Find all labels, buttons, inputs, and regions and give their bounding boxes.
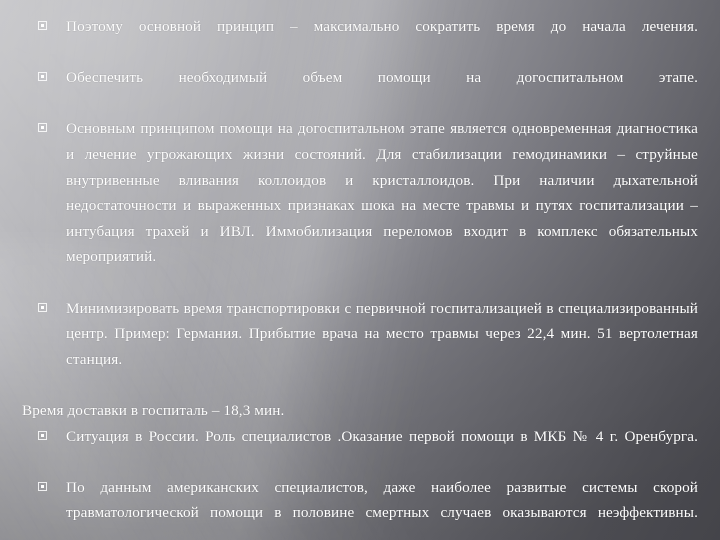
plain-paragraph-delivery-time: Время доставки в госпиталь – 18,3 мин. xyxy=(22,398,698,424)
bullet-item-1-text: Поэтому основной принцип – максимально с… xyxy=(66,14,698,65)
square-bullet-icon xyxy=(38,123,47,132)
square-bullet-icon xyxy=(38,482,47,491)
bullet-item-5: Ситуация в России. Роль специалистов .Ок… xyxy=(22,424,698,475)
square-bullet-icon xyxy=(38,431,47,440)
bullet-item-6-text: По данным американских специалистов, даж… xyxy=(66,475,698,540)
bullet-item-1: Поэтому основной принцип – максимально с… xyxy=(22,14,698,65)
square-bullet-icon xyxy=(38,303,47,312)
bullet-item-4-text: Минимизировать время транспортировки с п… xyxy=(66,296,698,398)
bullet-item-2-text: Обеспечить необходимый объем помощи на д… xyxy=(66,65,698,116)
bullet-item-3-text: Основным принципом помощи на догоспиталь… xyxy=(66,116,698,295)
bullet-item-5-text: Ситуация в России. Роль специалистов .Ок… xyxy=(66,424,698,475)
bullet-item-3: Основным принципом помощи на догоспиталь… xyxy=(22,116,698,295)
bullet-item-6: По данным американских специалистов, даж… xyxy=(22,475,698,540)
square-bullet-icon xyxy=(38,72,47,81)
square-bullet-icon xyxy=(38,21,47,30)
bullet-item-2: Обеспечить необходимый объем помощи на д… xyxy=(22,65,698,116)
slide-body: Поэтому основной принцип – максимально с… xyxy=(0,0,720,540)
plain-paragraph-delivery-time-text: Время доставки в госпиталь – 18,3 мин. xyxy=(22,398,698,424)
bullet-item-4: Минимизировать время транспортировки с п… xyxy=(22,296,698,398)
presentation-slide: Поэтому основной принцип – максимально с… xyxy=(0,0,720,540)
